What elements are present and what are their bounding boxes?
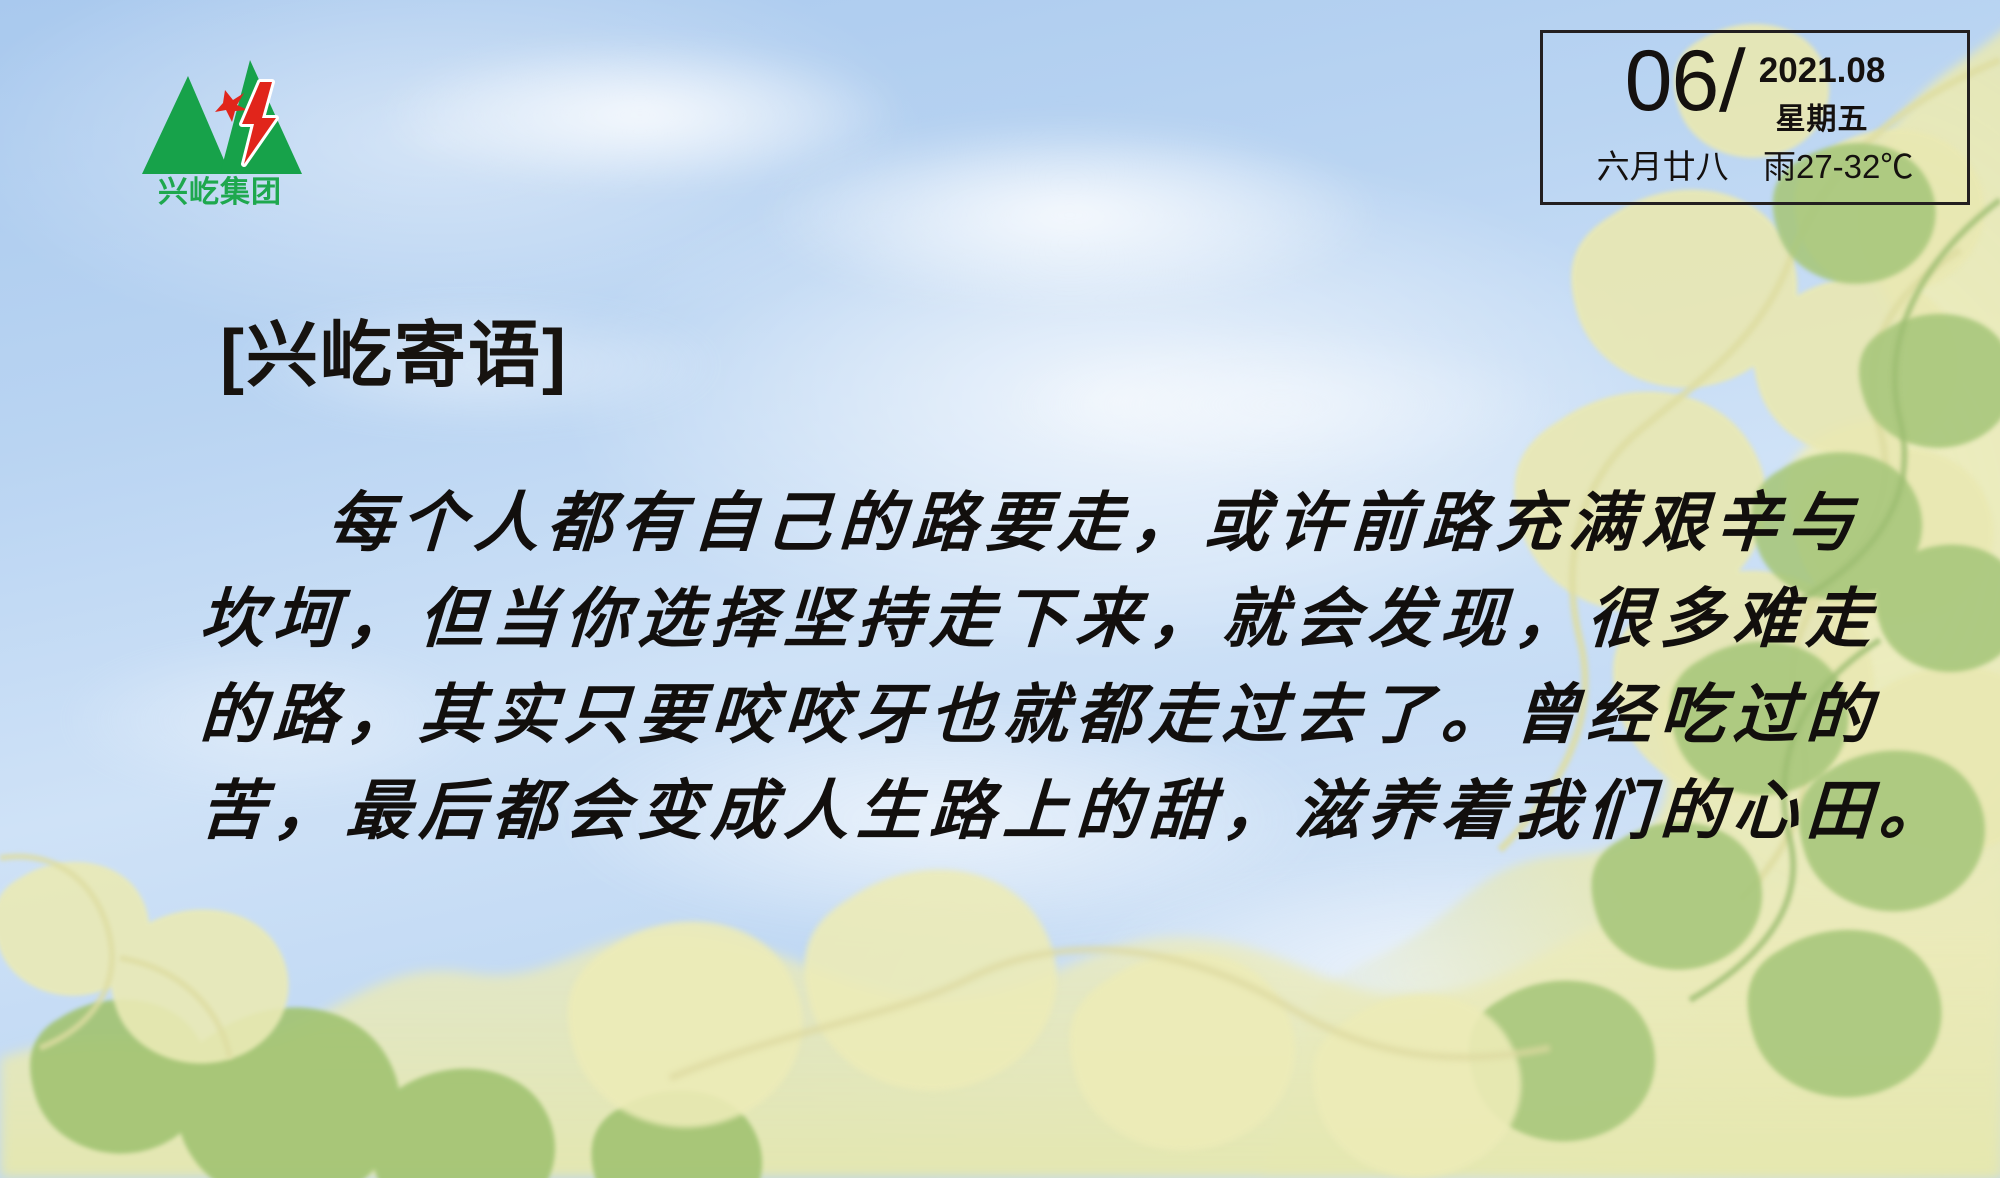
body-line: 每个人都有自己的路要走，或许前路充满艰辛与 [197,475,1902,571]
date-year-month: 2021.08 [1759,53,1886,90]
date-card-top-row: 06 / 2021.08 星期五 [1543,41,1967,138]
message-body: 每个人都有自己的路要走，或许前路充满艰辛与 坎坷，但当你选择坚持走下来，就会发现… [200,475,1900,859]
date-weekday: 星期五 [1759,94,1886,138]
date-year-month-block: 2021.08 星期五 [1759,41,1886,138]
brand-logo[interactable]: 兴屹集团 [120,46,320,206]
lunar-date: 六月廿八 [1597,148,1729,185]
logo-wordmark: 兴屹集团 [158,176,282,206]
date-card-bottom-row: 六月廿八 雨27-32℃ [1543,140,1967,188]
mountain-left-icon [142,76,230,174]
cloud-wisp [760,120,1380,310]
date-day-number: 06 [1625,41,1719,123]
poster-canvas: 兴屹集团 06 / 2021.08 星期五 六月廿八 雨27-32℃ [兴屹寄语… [0,0,2000,1178]
body-line: 苦，最后都会变成人生路上的甜，滋养着我们的心田。 [197,763,1902,859]
page-title: [兴屹寄语] [220,296,568,401]
body-line: 坎坷，但当你选择坚持走下来，就会发现，很多难走 [197,571,1902,667]
date-separator: / [1719,41,1746,122]
date-card: 06 / 2021.08 星期五 六月廿八 雨27-32℃ [1540,30,1970,205]
foliage-bottom-left-green [0,818,900,1178]
cloud-wisp [1000,330,1560,480]
body-line: 的路，其实只要咬咬牙也就都走过去了。曾经吃过的 [197,667,1902,763]
weather-text: 雨27-32℃ [1763,148,1913,185]
cloud-wisp [1080,860,1780,1090]
cloud-wisp [380,40,900,190]
